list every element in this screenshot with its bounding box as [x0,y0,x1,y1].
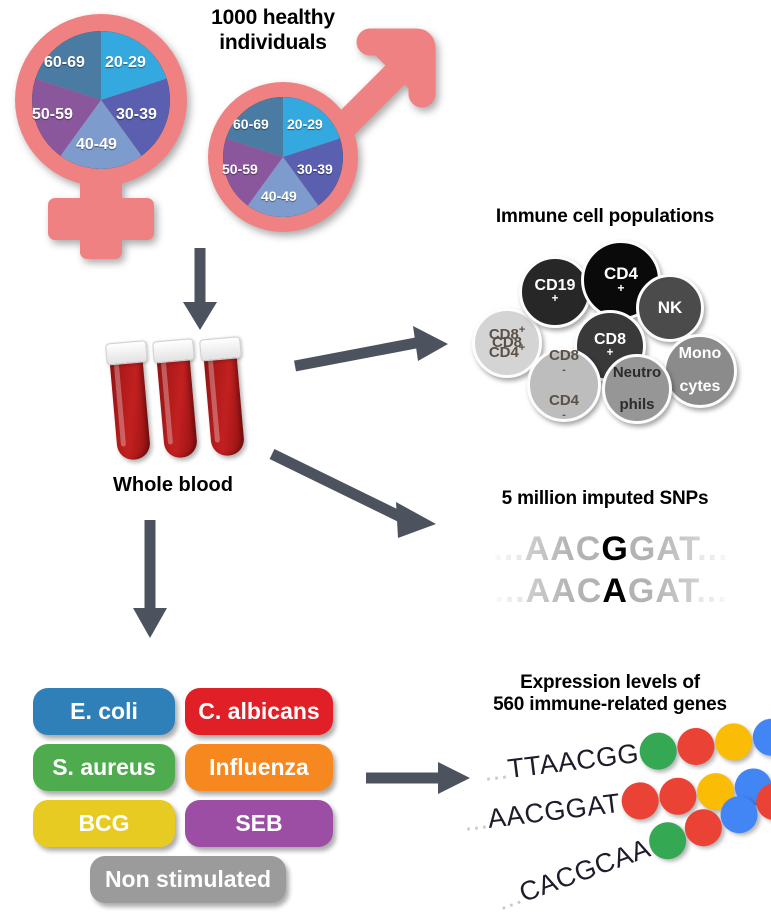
strand-lead: ... [462,804,489,837]
blood-tube [202,337,245,457]
expression-bead [657,776,698,817]
expression-bead [619,780,660,821]
immune-cell-neutrophils: Neutro phils [602,354,672,424]
stimulation-e-coli[interactable]: E. coli [33,688,175,735]
strand-bases: TTAACGG [506,738,641,784]
male-label-60-69: 60-69 [233,116,269,132]
male-label-20-29: 20-29 [287,116,323,132]
tube-cap [199,336,242,361]
stimulation-label: SEB [235,810,282,837]
tube-cap [152,338,195,363]
female-symbol: 60-69 20-29 50-59 30-39 40-49 [8,14,198,260]
female-label-60-69: 60-69 [44,54,85,72]
male-label-30-39: 30-39 [297,161,333,177]
immune-cell-cluster: CD8 CD8+ CD4+ CD19+ CD4+ NK [460,238,750,428]
stimulation-label: BCG [78,810,129,837]
lbl: CD19 [535,278,576,294]
snps-title: 5 million imputed SNPs [450,488,760,510]
seq-prefix: ... [494,572,525,610]
snp-sequence-row-2: ...AACAGAT... [486,572,736,611]
strand-sequence: ...CACGCAA [493,833,655,917]
seq-snp-base: G [601,530,628,568]
seq-right: GAT [629,530,697,568]
whole-blood-tubes [108,338,253,463]
blood-tube [108,341,151,461]
immune-cell-monocytes: Mono cytes [663,334,737,408]
male-symbol: 60-69 20-29 50-59 30-39 40-49 [208,28,428,238]
immune-cell-nk: NK [636,274,704,342]
stimulation-s-aureus[interactable]: S. aureus [33,744,175,791]
stimulation-label: E. coli [70,698,138,725]
expression-bead [675,726,716,767]
expression-bead [638,730,679,771]
immune-cell-cd19p: CD19+ [519,256,591,328]
immune-cell-cd8n-cd4n: CD8- CD4- [527,348,601,422]
lbl: Neutro [613,365,661,381]
whole-blood-label: Whole blood [78,474,268,497]
strand-bases: CACGCAA [515,833,654,908]
sup: - [549,365,579,377]
stimulation-influenza[interactable]: Influenza [185,744,333,791]
sup: + [604,282,638,294]
expression-bead [751,717,771,758]
blood-tube [155,339,198,459]
sup: - [549,410,579,422]
female-label-30-39: 30-39 [116,106,157,124]
stimulation-c-albicans[interactable]: C. albicans [185,688,333,735]
lbl: CD8 [594,332,626,348]
lbl: CD4 [604,265,638,282]
immune-title: Immune cell populations [440,206,770,228]
figure-canvas: 1000 healthy individuals 60-69 20-29 50-… [0,0,771,922]
seq-snp-base: A [602,572,628,610]
female-label-50-59: 50-59 [32,106,73,124]
arrow-blood-to-snps [268,448,448,548]
seq-suffix: ... [697,530,728,568]
snp-sequence-row-1: ...AACGGAT... [486,530,736,569]
strand-lead: ... [482,754,509,787]
arrow-blood-to-immune [293,324,458,386]
male-label-50-59: 50-59 [222,161,258,177]
stimulation-label: Influenza [209,754,309,781]
stimulation-bcg[interactable]: BCG [33,800,175,847]
expression-bead [713,721,754,762]
lbl: NK [658,299,683,316]
strand-sequence: ...AACGGAT [462,788,622,838]
stimulation-label: C. albicans [198,698,319,725]
strand-sequence: ...TTAACGG [482,738,641,788]
female-label-40-49: 40-49 [76,136,117,154]
stimulation-seb[interactable]: SEB [185,800,333,847]
stimulation-non-stimulated[interactable]: Non stimulated [90,856,286,903]
tube-cap [105,340,148,365]
seq-left: AAC [525,530,602,568]
male-label-40-49: 40-49 [261,188,297,204]
expression-title: Expression levels of 560 immune-related … [455,672,765,717]
expression-strands: ...TTAACGG ...AACGGAT ...CACGCAA [470,726,771,916]
lbl: phils [613,397,661,413]
strand-bases: AACGGAT [486,788,622,834]
lbl: CD4 [549,393,579,410]
stimulation-label: Non stimulated [105,866,271,893]
lbl: CD8 [549,348,579,365]
seq-suffix: ... [696,572,727,610]
stimulation-label: S. aureus [52,754,156,781]
seq-left: AAC [526,572,603,610]
lbl: Mono [679,346,722,363]
arrow-stimulations-to-expression [364,756,474,800]
lbl: cytes [679,379,722,396]
female-cross-horizontal [48,198,154,240]
seq-prefix: ... [493,530,524,568]
female-label-20-29: 20-29 [105,54,146,72]
arrow-cohort-to-blood [178,248,224,332]
seq-right: GAT [628,572,696,610]
arrow-blood-to-stimulations [128,520,174,640]
sup: + [535,294,576,306]
cell-line-1: CD8 [492,335,522,350]
